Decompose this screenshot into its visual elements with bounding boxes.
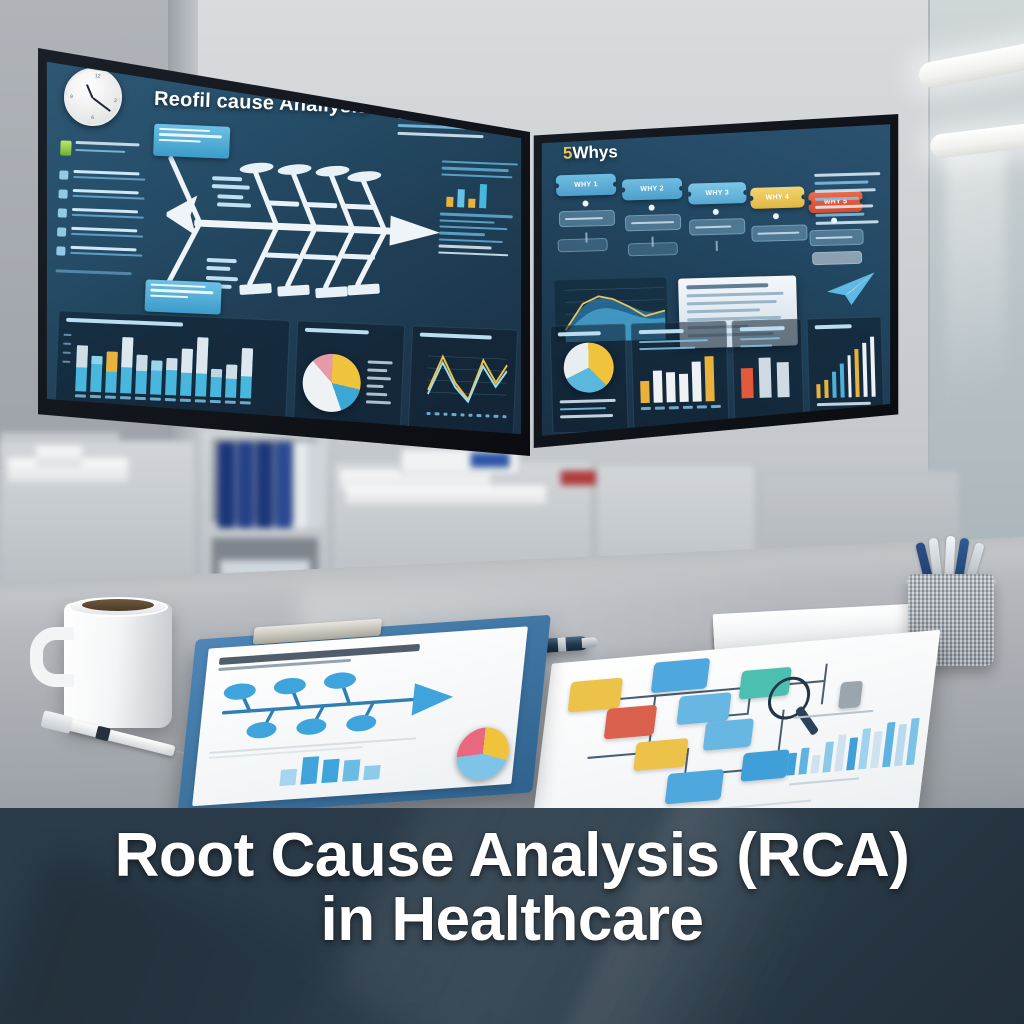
sidebar-item-4[interactable] — [56, 245, 142, 258]
sidebar-item-1[interactable] — [58, 188, 144, 201]
pen-end — [582, 637, 599, 648]
clipboard-page — [192, 626, 528, 806]
clipboard-fishbone — [211, 662, 467, 742]
mug-handle — [30, 627, 74, 687]
sidebar-item-0[interactable] — [59, 169, 145, 182]
why-detail-1b[interactable] — [628, 242, 678, 256]
banner-title-line-1: Root Cause Analysis (RCA) — [0, 824, 1024, 888]
sidebar-badge — [60, 140, 147, 158]
screen-left-side-report — [438, 161, 518, 261]
screen-left-sidebar[interactable] — [55, 140, 146, 280]
node-blue-1 — [651, 658, 711, 693]
why-step-0[interactable]: WHY 1 — [556, 174, 617, 197]
title-text: Whys — [572, 142, 618, 162]
why-detail-2[interactable] — [689, 218, 745, 236]
mug-rim — [68, 597, 168, 617]
why-detail-0b[interactable] — [558, 238, 608, 252]
why-detail-4b[interactable] — [812, 251, 862, 265]
node-blue-4 — [740, 749, 789, 781]
why-step-3[interactable]: WHY 4 — [750, 186, 805, 208]
doc-icon — [56, 246, 65, 255]
clipboard[interactable] — [177, 615, 551, 818]
fishbone-note-bottom — [144, 279, 221, 314]
why-step-1[interactable]: WHY 2 — [622, 178, 683, 201]
bar-panel-a[interactable] — [631, 321, 730, 432]
bar-chart-panel[interactable] — [54, 310, 290, 430]
why-detail-0[interactable] — [559, 210, 615, 228]
title-banner: Root Cause Analysis (RCA) in Healthcare — [0, 808, 1024, 1024]
why-detail-1[interactable] — [625, 214, 681, 232]
screen-right-bottom-panels — [550, 316, 885, 433]
phone-icon — [59, 170, 68, 179]
metrics-panel[interactable] — [731, 319, 804, 429]
pie-chart — [302, 352, 362, 412]
line-chart-panel[interactable] — [408, 325, 519, 439]
pen-ring — [557, 637, 566, 652]
node-blue-5 — [665, 769, 725, 804]
coffee-mug[interactable] — [64, 603, 172, 728]
why-detail-4[interactable] — [809, 229, 863, 247]
why-detail-3[interactable] — [751, 224, 807, 242]
paper-plane-icon — [825, 270, 880, 307]
screen-right-title: 5Whys — [563, 142, 618, 164]
fishbone-diagram — [151, 140, 458, 322]
scene-root: 12 3 6 9 Reofil cause Anallysis — [0, 0, 1024, 1024]
node-red — [604, 705, 658, 740]
clipboard-pie-chart — [454, 726, 511, 782]
chart-icon — [58, 189, 67, 198]
pie-chart — [563, 342, 614, 393]
sidebar-item-2[interactable] — [58, 207, 144, 220]
pie-panel[interactable] — [550, 324, 629, 434]
coffee-liquid — [82, 599, 154, 611]
clock-icon: 12 3 6 9 — [62, 66, 125, 129]
wall-display-right[interactable]: 5Whys WHY 1 WHY 2 WHY 3 WHY 4 WHY 5 — [530, 112, 902, 448]
node-yellow-2 — [633, 738, 688, 771]
bar-panel-b[interactable] — [806, 316, 884, 426]
screen-left-bottom-panels — [54, 310, 518, 439]
thumb-icon — [58, 208, 67, 217]
bar-series — [63, 329, 281, 400]
pie-chart-panel[interactable] — [293, 320, 406, 434]
fishbone-note-top — [153, 124, 230, 159]
screen-right-notes — [814, 172, 882, 230]
sidebar-item-3[interactable] — [57, 226, 143, 239]
banner-title-line-2: in Healthcare — [0, 888, 1024, 952]
why-step-2[interactable]: WHY 3 — [688, 182, 747, 205]
legend-gray-block — [838, 681, 863, 709]
screen-right-content: 5Whys WHY 1 WHY 2 WHY 3 WHY 4 WHY 5 — [539, 121, 893, 439]
line-chart — [417, 344, 509, 408]
clock-small-icon — [57, 227, 66, 236]
node-yellow-start — [568, 678, 624, 713]
node-blue-3 — [703, 718, 754, 751]
